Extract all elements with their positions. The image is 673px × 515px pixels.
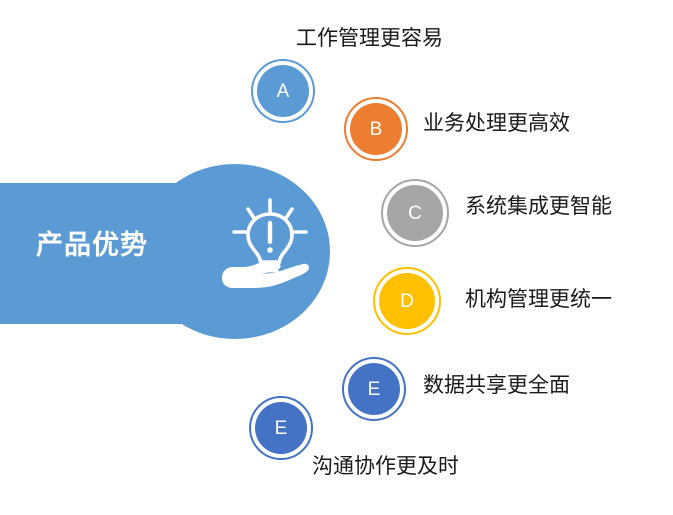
- badge-f[interactable]: E: [249, 396, 313, 460]
- product-advantages-infographic: 产品优势 A 工作管理更容易: [0, 0, 673, 515]
- badge-b-letter: B: [350, 103, 402, 155]
- badge-c[interactable]: C: [381, 179, 449, 247]
- banner-title: 产品优势: [36, 232, 148, 259]
- badge-f-letter: E: [255, 402, 307, 454]
- badge-a[interactable]: A: [251, 59, 315, 123]
- badge-c-letter: C: [387, 185, 443, 241]
- badge-d-letter: D: [379, 273, 435, 329]
- badge-d[interactable]: D: [373, 267, 441, 335]
- item-label-e: 数据共享更全面: [423, 375, 570, 396]
- badge-e[interactable]: E: [342, 357, 406, 421]
- badge-a-letter: A: [257, 65, 309, 117]
- lightbulb-in-hand-icon: [218, 192, 322, 296]
- badge-e-letter: E: [348, 363, 400, 415]
- item-label-c: 系统集成更智能: [465, 196, 612, 217]
- item-label-d: 机构管理更统一: [465, 289, 612, 310]
- item-label-b: 业务处理更高效: [423, 113, 570, 134]
- item-label-a: 工作管理更容易: [296, 28, 443, 49]
- badge-b[interactable]: B: [344, 97, 408, 161]
- item-label-f: 沟通协作更及时: [312, 456, 459, 477]
